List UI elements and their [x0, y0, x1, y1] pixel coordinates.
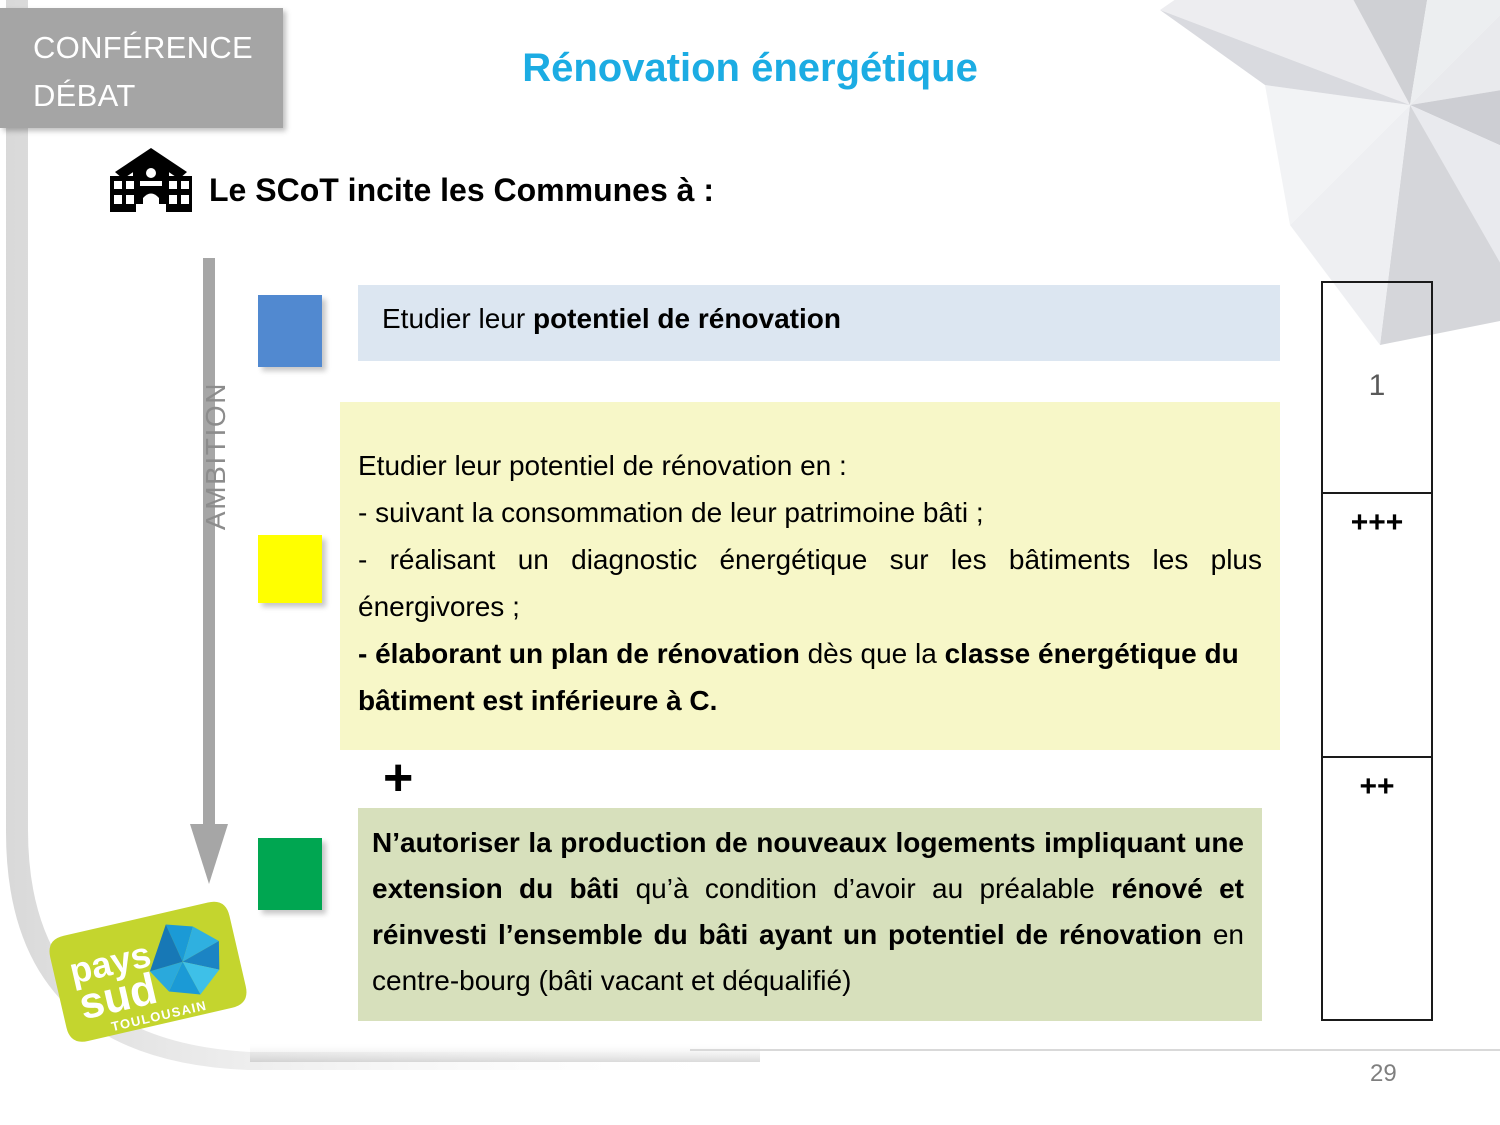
ambition-axis-label: AMBITION: [200, 346, 232, 566]
yellow-line-4-bold-a: - élaborant un plan de rénovation: [358, 638, 800, 669]
yellow-line-1: Etudier leur potentiel de rénovation en …: [358, 442, 1262, 489]
yellow-line-2: - suivant la consommation de leur patrim…: [358, 489, 1262, 536]
content-box-blue: Etudier leur potentiel de rénovation: [358, 285, 1280, 361]
swatch-green: [258, 838, 322, 910]
rating-value-3: ++: [1323, 770, 1431, 804]
green-plain-1: qu’à condition d’avoir au préalable: [619, 873, 1111, 904]
table-row: ++: [1323, 758, 1431, 1019]
rating-value-1: 1: [1323, 369, 1431, 403]
conference-debat-tab: CONFÉRENCE DÉBAT: [0, 8, 283, 128]
slide-canvas: CONFÉRENCE DÉBAT Rénovation énergétique: [0, 0, 1500, 1125]
rating-value-2: +++: [1323, 506, 1431, 540]
footer-divider: [690, 1049, 1500, 1051]
rating-table: 1 +++ ++: [1321, 281, 1433, 1021]
yellow-line-4-plain-a: dès que la: [800, 638, 945, 669]
plus-operator: +: [383, 752, 413, 804]
town-hall-icon: [107, 146, 195, 212]
pays-sud-toulousain-logo: pays sud TOULOUSAIN: [41, 892, 253, 1052]
content-box-green: N’autoriser la production de nouveaux lo…: [358, 808, 1262, 1021]
page-title: Rénovation énergétique: [350, 46, 1150, 91]
table-row: 1: [1323, 283, 1431, 494]
yellow-line-4: - élaborant un plan de rénovation dès qu…: [358, 630, 1262, 724]
swatch-yellow: [258, 535, 322, 603]
swatch-blue: [258, 295, 322, 367]
conference-tab-line-2: DÉBAT: [33, 78, 136, 114]
page-number: 29: [1370, 1060, 1397, 1088]
box-blue-text-plain: Etudier leur: [382, 303, 533, 334]
yellow-line-3: - réalisant un diagnostic énergétique su…: [358, 536, 1262, 630]
content-box-yellow: Etudier leur potentiel de rénovation en …: [340, 402, 1280, 750]
conference-tab-line-1: CONFÉRENCE: [33, 30, 253, 66]
box-blue-text-bold: potentiel de rénovation: [533, 303, 841, 334]
table-row: +++: [1323, 494, 1431, 758]
section-heading: Le SCoT incite les Communes à :: [209, 172, 714, 209]
